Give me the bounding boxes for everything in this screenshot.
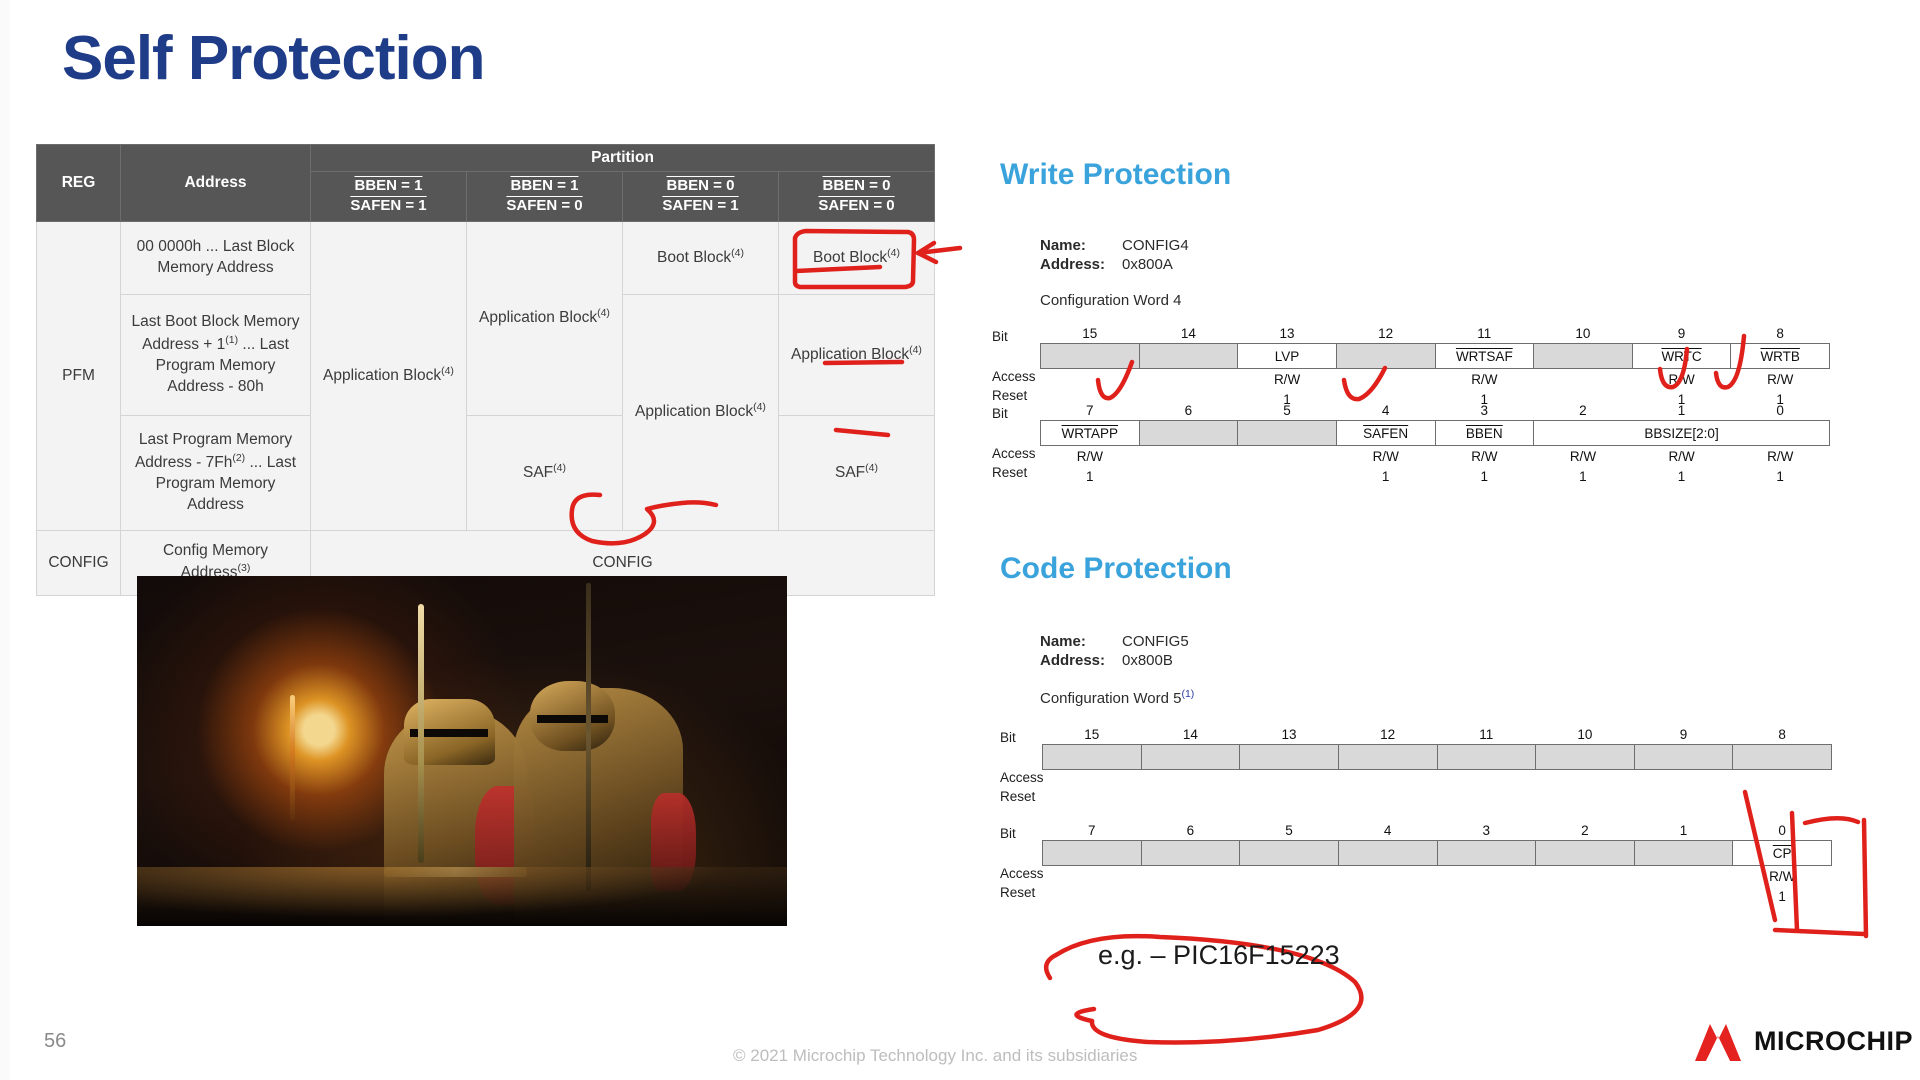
access bbox=[1534, 369, 1633, 390]
bitcell-wrtb: WRTB bbox=[1731, 344, 1830, 369]
th-reg: REG bbox=[37, 145, 121, 222]
example-annotation-text: e.g. – PIC16F15223 bbox=[1098, 940, 1340, 971]
bitcell-wrtapp: WRTAPP bbox=[1041, 421, 1140, 446]
cell-reg-config: CONFIG bbox=[37, 530, 121, 595]
p4-saf-sup: (4) bbox=[865, 462, 878, 474]
partition-table: REG Address Partition BBEN = 1 SAFEN = 1… bbox=[36, 144, 935, 596]
cp-high-reset-label: Reset bbox=[1000, 789, 1035, 804]
copyright-text: © 2021 Microchip Technology Inc. and its… bbox=[733, 1046, 1137, 1066]
sword-blade bbox=[418, 604, 424, 863]
access bbox=[1043, 866, 1142, 887]
bitcell bbox=[1043, 745, 1142, 770]
ink-bracket-right bbox=[1864, 820, 1866, 936]
access: R/W bbox=[1534, 446, 1633, 467]
bitnum: 2 bbox=[1534, 401, 1633, 421]
access: R/W bbox=[1336, 446, 1435, 467]
th-partition-col-3: BBEN = 0 SAFEN = 1 bbox=[623, 172, 779, 222]
bitcell-wrtsaf-label: WRTSAF bbox=[1456, 349, 1513, 364]
cp-name-row: Name:CONFIG5 bbox=[1040, 633, 1189, 650]
bitnum: 14 bbox=[1139, 324, 1238, 344]
bitcell bbox=[1139, 421, 1238, 446]
config5-low-cells: CP bbox=[1043, 841, 1832, 866]
config5-high-cells bbox=[1043, 745, 1832, 770]
reset: 1 bbox=[1534, 466, 1633, 486]
config4-low-bit-numbers: 7 6 5 4 3 2 1 0 bbox=[1041, 401, 1830, 421]
bitnum: 12 bbox=[1336, 324, 1435, 344]
config5-low-bitfield: 7 6 5 4 3 2 1 0 CP R/W bbox=[1042, 821, 1832, 906]
bitcell-wrtb-label: WRTB bbox=[1760, 349, 1800, 364]
th-safen-3: SAFEN = 1 bbox=[662, 197, 738, 214]
bitnum: 9 bbox=[1634, 725, 1733, 745]
microchip-logo: MICROCHIP bbox=[1690, 1020, 1890, 1066]
bitnum: 7 bbox=[1041, 401, 1140, 421]
access bbox=[1536, 866, 1635, 887]
cell-p2-saf: SAF(4) bbox=[467, 415, 623, 530]
cp-name-label: Name: bbox=[1040, 633, 1122, 650]
cell-address-3-sup: (2) bbox=[232, 452, 245, 464]
page-number: 56 bbox=[44, 1030, 66, 1053]
cell-address-config-sup: (3) bbox=[238, 562, 251, 574]
bitnum: 3 bbox=[1437, 821, 1536, 841]
bitcell-wrtc-label: WRTC bbox=[1661, 349, 1701, 364]
wp-word-caption: Configuration Word 4 bbox=[1040, 292, 1181, 309]
bitnum: 10 bbox=[1534, 324, 1633, 344]
wp-low-reset-label: Reset bbox=[992, 465, 1027, 480]
access bbox=[1139, 446, 1238, 467]
cp-high-access-label: Access bbox=[1000, 770, 1044, 785]
config4-low-bitfield: 7 6 5 4 3 2 1 0 WRTAPP SAFEN BBEN BBSIZE… bbox=[1040, 401, 1830, 486]
wp-address-label: Address: bbox=[1040, 256, 1122, 273]
cell-p4-application: Application Block(4) bbox=[779, 294, 935, 415]
access bbox=[1336, 369, 1435, 390]
slide-canvas: Self Protection REG Address Partition BB… bbox=[0, 0, 1920, 1080]
bitcell bbox=[1336, 344, 1435, 369]
access: R/W bbox=[1731, 446, 1830, 467]
cp-low-bit-label: Bit bbox=[1000, 826, 1016, 841]
wp-high-access-label: Access bbox=[992, 369, 1036, 384]
bitnum: 5 bbox=[1240, 821, 1339, 841]
bitcell bbox=[1733, 745, 1832, 770]
config4-high-cells: LVP WRTSAF WRTC WRTB bbox=[1041, 344, 1830, 369]
wp-high-bit-label: Bit bbox=[992, 329, 1008, 344]
knight-right-visor bbox=[537, 715, 609, 723]
p1-application-label: Application Block bbox=[323, 367, 441, 384]
reset bbox=[1139, 466, 1238, 486]
ink-ellipse-example-hook bbox=[1076, 1009, 1094, 1021]
th-address: Address bbox=[121, 145, 311, 222]
bitcell bbox=[1238, 421, 1337, 446]
cell-p1-application: Application Block(4) bbox=[311, 221, 467, 530]
cell-p3-application: Application Block(4) bbox=[623, 294, 779, 530]
p2-application-label: Application Block bbox=[479, 310, 597, 327]
write-protection-title: Write Protection bbox=[1000, 158, 1231, 192]
bitcell bbox=[1240, 745, 1339, 770]
bitnum: 13 bbox=[1240, 725, 1339, 745]
cell-p4-boot: Boot Block(4) bbox=[779, 221, 935, 294]
bitcell bbox=[1338, 745, 1437, 770]
bitnum: 6 bbox=[1141, 821, 1240, 841]
cell-address-2-sup: (1) bbox=[225, 334, 238, 346]
bitcell-wrtc: WRTC bbox=[1632, 344, 1731, 369]
config4-high-access: R/W R/W R/W R/W bbox=[1041, 369, 1830, 390]
access bbox=[1041, 369, 1140, 390]
bitnum: 11 bbox=[1435, 324, 1534, 344]
p2-saf-sup: (4) bbox=[553, 462, 566, 474]
cp-high-bit-label: Bit bbox=[1000, 730, 1016, 745]
config5-low-bit-numbers: 7 6 5 4 3 2 1 0 bbox=[1043, 821, 1832, 841]
bitcell bbox=[1536, 841, 1635, 866]
bitcell bbox=[1240, 841, 1339, 866]
reset bbox=[1437, 886, 1536, 906]
bitcell-wrtsaf: WRTSAF bbox=[1435, 344, 1534, 369]
config5-low-reset: 1 bbox=[1043, 886, 1832, 906]
access: R/W bbox=[1435, 369, 1534, 390]
th-partition-col-2: BBEN = 1 SAFEN = 0 bbox=[467, 172, 623, 222]
bitnum: 11 bbox=[1437, 725, 1536, 745]
p4-boot-sup: (4) bbox=[887, 247, 900, 259]
th-safen-2: SAFEN = 0 bbox=[506, 197, 582, 214]
bitnum: 4 bbox=[1338, 821, 1437, 841]
reset bbox=[1634, 886, 1733, 906]
config5-high-bit-numbers: 15 14 13 12 11 10 9 8 bbox=[1043, 725, 1832, 745]
bitnum: 15 bbox=[1041, 324, 1140, 344]
p1-application-sup: (4) bbox=[441, 365, 454, 377]
bitcell bbox=[1634, 841, 1733, 866]
access bbox=[1634, 866, 1733, 887]
bitcell bbox=[1536, 745, 1635, 770]
config5-high-bitfield: 15 14 13 12 11 10 9 8 bbox=[1042, 725, 1832, 770]
access: R/W bbox=[1238, 369, 1337, 390]
p3-boot-label: Boot Block bbox=[657, 249, 731, 266]
bitcell bbox=[1139, 344, 1238, 369]
th-partition-col-1: BBEN = 1 SAFEN = 1 bbox=[311, 172, 467, 222]
p4-application-sup: (4) bbox=[909, 344, 922, 356]
code-protection-title: Code Protection bbox=[1000, 552, 1232, 586]
ink-ellipse-example-tail bbox=[1046, 955, 1056, 978]
cell-address-3: Last Program Memory Address - 7Fh(2) ...… bbox=[121, 415, 311, 530]
reset bbox=[1536, 886, 1635, 906]
bitcell bbox=[1043, 841, 1142, 866]
bitcell-lvp: LVP bbox=[1238, 344, 1337, 369]
wp-name-row: Name:CONFIG4 bbox=[1040, 237, 1189, 254]
cell-reg-pfm: PFM bbox=[37, 221, 121, 530]
p2-saf-label: SAF bbox=[523, 464, 553, 481]
cp-low-access-label: Access bbox=[1000, 866, 1044, 881]
th-bben-2: BBEN = 1 bbox=[511, 177, 579, 194]
cp-word-caption-text: Configuration Word 5 bbox=[1040, 690, 1181, 707]
bitnum: 3 bbox=[1435, 401, 1534, 421]
config5-low-access: R/W bbox=[1043, 866, 1832, 887]
bitnum: 0 bbox=[1733, 821, 1832, 841]
config4-low-reset: 1 1 1 1 1 1 bbox=[1041, 466, 1830, 486]
bitnum: 4 bbox=[1336, 401, 1435, 421]
wp-address-row: Address:0x800A bbox=[1040, 256, 1173, 273]
th-bben-3: BBEN = 0 bbox=[667, 177, 735, 194]
access: R/W bbox=[1632, 446, 1731, 467]
bitcell bbox=[1141, 841, 1240, 866]
access bbox=[1141, 866, 1240, 887]
bitcell-bben: BBEN bbox=[1435, 421, 1534, 446]
p3-boot-sup: (4) bbox=[731, 247, 744, 259]
bitnum: 8 bbox=[1731, 324, 1830, 344]
ink-bracket-bottom bbox=[1775, 930, 1864, 934]
th-partition-col-4: BBEN = 0 SAFEN = 0 bbox=[779, 172, 935, 222]
bitnum: 1 bbox=[1632, 401, 1731, 421]
cell-address-2: Last Boot Block Memory Address + 1(1) ..… bbox=[121, 294, 311, 415]
bitnum: 1 bbox=[1634, 821, 1733, 841]
config4-high-bitfield: 15 14 13 12 11 10 9 8 LVP WRTSAF WRTC WR… bbox=[1040, 324, 1830, 409]
reset bbox=[1240, 886, 1339, 906]
bitnum: 12 bbox=[1338, 725, 1437, 745]
cell-p2-application: Application Block(4) bbox=[467, 221, 623, 415]
config4-low-cells: WRTAPP SAFEN BBEN BBSIZE[2:0] bbox=[1041, 421, 1830, 446]
bitnum: 0 bbox=[1731, 401, 1830, 421]
bitnum: 6 bbox=[1139, 401, 1238, 421]
config4-low-access: R/W R/W R/W R/W R/W R/W bbox=[1041, 446, 1830, 467]
cp-address-value: 0x800B bbox=[1122, 652, 1173, 669]
table-row: PFM 00 0000h ... Last Block Memory Addre… bbox=[37, 221, 935, 294]
cp-low-reset-label: Reset bbox=[1000, 885, 1035, 900]
access bbox=[1338, 866, 1437, 887]
reset bbox=[1141, 886, 1240, 906]
th-partition: Partition bbox=[311, 145, 935, 172]
bitnum: 9 bbox=[1632, 324, 1731, 344]
cp-word-caption-sup: (1) bbox=[1181, 688, 1194, 700]
cp-name-value: CONFIG5 bbox=[1122, 633, 1189, 650]
p2-application-sup: (4) bbox=[597, 307, 610, 319]
spear-shaft bbox=[586, 583, 591, 891]
bitcell bbox=[1634, 745, 1733, 770]
cp-address-label: Address: bbox=[1040, 652, 1122, 669]
bitcell-safen: SAFEN bbox=[1336, 421, 1435, 446]
wp-low-bit-label: Bit bbox=[992, 406, 1008, 421]
cell-address-1: 00 0000h ... Last Block Memory Address bbox=[121, 221, 311, 294]
reset: 1 bbox=[1632, 466, 1731, 486]
access bbox=[1240, 866, 1339, 887]
reset: 1 bbox=[1041, 466, 1140, 486]
table-row: Last Program Memory Address - 7Fh(2) ...… bbox=[37, 415, 935, 530]
access: R/W bbox=[1733, 866, 1832, 887]
bitcell-safen-label: SAFEN bbox=[1363, 426, 1408, 441]
th-safen-4: SAFEN = 0 bbox=[818, 197, 894, 214]
access bbox=[1437, 866, 1536, 887]
bitnum: 8 bbox=[1733, 725, 1832, 745]
th-safen-1: SAFEN = 1 bbox=[350, 197, 426, 214]
bitcell-cp-label: CP bbox=[1773, 846, 1792, 861]
reset: 1 bbox=[1731, 466, 1830, 486]
access bbox=[1139, 369, 1238, 390]
bitcell bbox=[1338, 841, 1437, 866]
bitcell-wrtapp-label: WRTAPP bbox=[1062, 426, 1119, 441]
wp-high-reset-label: Reset bbox=[992, 388, 1027, 403]
bitcell-cp: CP bbox=[1733, 841, 1832, 866]
cell-p4-saf: SAF(4) bbox=[779, 415, 935, 530]
reset bbox=[1338, 886, 1437, 906]
page-title: Self Protection bbox=[62, 26, 485, 91]
bitnum: 10 bbox=[1536, 725, 1635, 745]
reset: 1 bbox=[1336, 466, 1435, 486]
slide-left-edge bbox=[0, 0, 10, 1080]
bitnum: 5 bbox=[1238, 401, 1337, 421]
p4-saf-label: SAF bbox=[835, 464, 865, 481]
bitnum: 7 bbox=[1043, 821, 1142, 841]
reset bbox=[1043, 886, 1142, 906]
access: R/W bbox=[1041, 446, 1140, 467]
access: R/W bbox=[1632, 369, 1731, 390]
bitnum: 13 bbox=[1238, 324, 1337, 344]
p4-boot-label: Boot Block bbox=[813, 249, 887, 266]
th-bben-1: BBEN = 1 bbox=[355, 177, 423, 194]
torch-flame bbox=[290, 695, 295, 821]
config4-high-bit-numbers: 15 14 13 12 11 10 9 8 bbox=[1041, 324, 1830, 344]
bitnum: 14 bbox=[1141, 725, 1240, 745]
p4-application-label: Application Block bbox=[791, 346, 909, 363]
bitcell bbox=[1141, 745, 1240, 770]
wp-address-value: 0x800A bbox=[1122, 256, 1173, 273]
wp-name-value: CONFIG4 bbox=[1122, 237, 1189, 254]
access: R/W bbox=[1731, 369, 1830, 390]
reset: 1 bbox=[1435, 466, 1534, 486]
knights-photo bbox=[137, 576, 787, 926]
bitcell bbox=[1041, 344, 1140, 369]
slide-top-edge bbox=[0, 0, 1920, 6]
microchip-mark-icon bbox=[1690, 1020, 1746, 1066]
bitcell bbox=[1534, 344, 1633, 369]
wp-low-access-label: Access bbox=[992, 446, 1036, 461]
p3-application-label: Application Block bbox=[635, 404, 753, 421]
bitnum: 15 bbox=[1043, 725, 1142, 745]
cell-p3-boot: Boot Block(4) bbox=[623, 221, 779, 294]
bitcell-bbsize: BBSIZE[2:0] bbox=[1534, 421, 1830, 446]
bitnum: 2 bbox=[1536, 821, 1635, 841]
th-bben-4: BBEN = 0 bbox=[823, 177, 891, 194]
cp-address-row: Address:0x800B bbox=[1040, 652, 1173, 669]
cp-word-caption: Configuration Word 5(1) bbox=[1040, 688, 1194, 707]
bitcell-bben-label: BBEN bbox=[1466, 426, 1503, 441]
access: R/W bbox=[1435, 446, 1534, 467]
access bbox=[1238, 446, 1337, 467]
photo-foreground bbox=[137, 867, 787, 927]
bitcell bbox=[1437, 841, 1536, 866]
bitcell bbox=[1437, 745, 1536, 770]
p3-application-sup: (4) bbox=[753, 401, 766, 413]
microchip-wordmark: MICROCHIP bbox=[1754, 1026, 1913, 1057]
reset bbox=[1238, 466, 1337, 486]
reset: 1 bbox=[1733, 886, 1832, 906]
table-header-row-1: REG Address Partition bbox=[37, 145, 935, 172]
wp-name-label: Name: bbox=[1040, 237, 1122, 254]
